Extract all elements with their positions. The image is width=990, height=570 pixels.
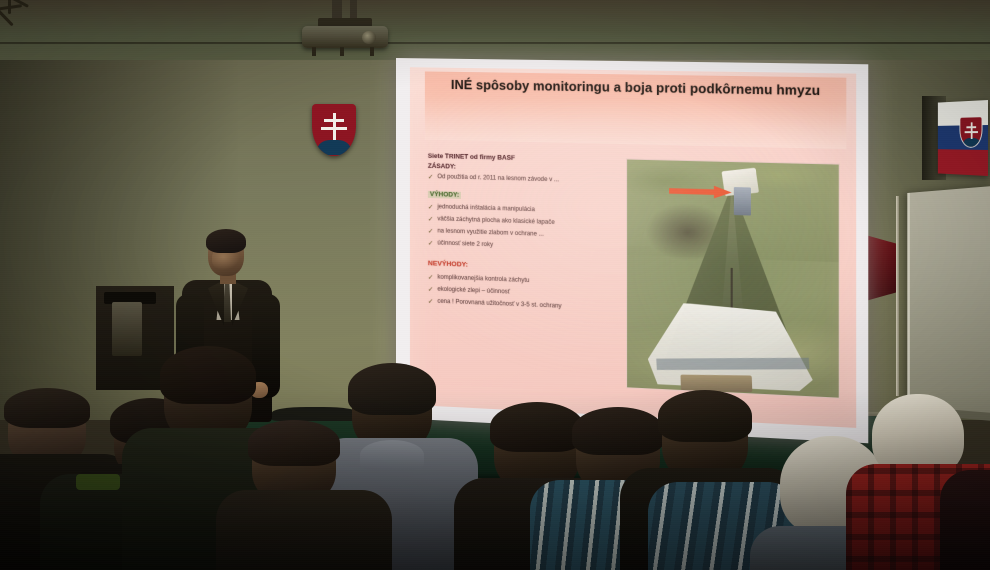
slide-intro-bullet: ✓ Od použitia od r. 2011 na lesnom závod… (428, 173, 618, 188)
slide-photo (626, 159, 840, 399)
slide-body: Siete TRINET od firmy BASF ZÁSADY: ✓ Od … (422, 152, 845, 419)
ceiling-light-icon (0, 0, 72, 36)
desk-equipment (112, 302, 142, 356)
presenter-hair (206, 229, 246, 253)
check-icon: ✓ (428, 215, 433, 225)
presentation-slide: INÉ spôsoby monitoringu a boja proti pod… (410, 67, 856, 428)
slovak-flag-icon (938, 100, 988, 176)
attendee-hair (248, 420, 340, 466)
ceiling (0, 0, 990, 66)
projection-screen: INÉ spôsoby monitoringu a boja proti pod… (396, 58, 868, 443)
attendee-body (940, 470, 990, 570)
attendee-hair (160, 346, 256, 404)
slide-disadvantages-heading: NEVÝHODY: (428, 260, 618, 274)
check-icon: ✓ (428, 173, 433, 183)
attendee-hair (4, 388, 90, 428)
attendee-collar-accent (76, 474, 120, 490)
projector-lens-icon (362, 31, 376, 44)
check-icon: ✓ (428, 297, 433, 307)
projector-icon (296, 0, 394, 58)
whiteboard (907, 186, 990, 414)
slide-text-column: Siete TRINET od firmy BASF ZÁSADY: ✓ Od … (428, 152, 618, 314)
check-icon: ✓ (428, 285, 433, 295)
photo-projection-wash (627, 160, 839, 398)
check-icon: ✓ (428, 203, 433, 213)
attendee (940, 470, 990, 570)
whiteboard-edge (896, 196, 899, 396)
attendee-body (216, 490, 392, 570)
ceiling-seam (0, 42, 990, 44)
check-icon: ✓ (428, 273, 433, 283)
check-icon: ✓ (428, 227, 433, 237)
attendee-hair (348, 363, 436, 415)
slide-advantages-heading: VÝHODY: (428, 191, 461, 199)
attendee (232, 424, 372, 570)
check-icon: ✓ (428, 239, 433, 249)
presentation-room-photo: INÉ spôsoby monitoringu a boja proti pod… (0, 0, 990, 570)
slovak-coat-of-arms-icon (312, 104, 356, 156)
